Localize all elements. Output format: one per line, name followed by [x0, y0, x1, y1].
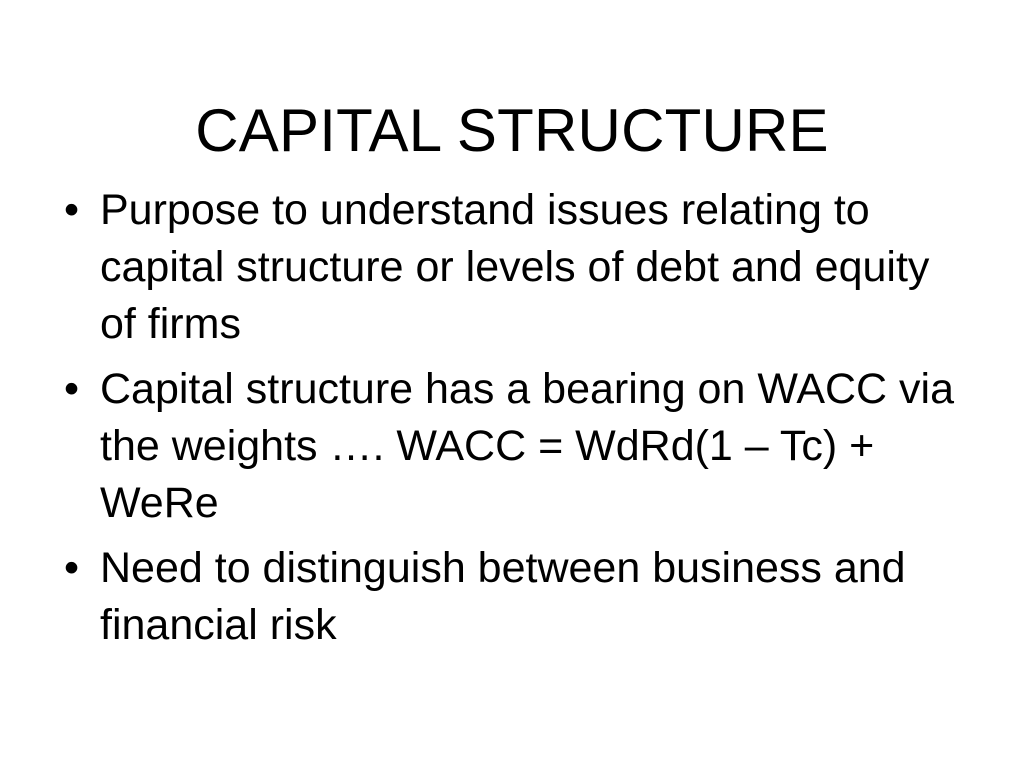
slide-body: • Purpose to understand issues relating …	[56, 182, 968, 654]
presentation-slide: CAPITAL STRUCTURE • Purpose to understan…	[0, 0, 1024, 768]
bullet-text: Capital structure has a bearing on WACC …	[100, 361, 968, 532]
bullet-text: Need to distinguish between business and…	[100, 540, 968, 654]
slide-title: CAPITAL STRUCTURE	[0, 98, 1024, 164]
bullet-list: • Purpose to understand issues relating …	[56, 182, 968, 654]
bullet-item-purpose: • Purpose to understand issues relating …	[56, 182, 968, 353]
bullet-point-icon: •	[64, 540, 79, 597]
bullet-item-risk-distinction: • Need to distinguish between business a…	[56, 540, 968, 654]
bullet-point-icon: •	[64, 361, 79, 418]
bullet-text: Purpose to understand issues relating to…	[100, 182, 968, 353]
bullet-item-wacc-formula: • Capital structure has a bearing on WAC…	[56, 361, 968, 532]
bullet-point-icon: •	[64, 182, 79, 239]
